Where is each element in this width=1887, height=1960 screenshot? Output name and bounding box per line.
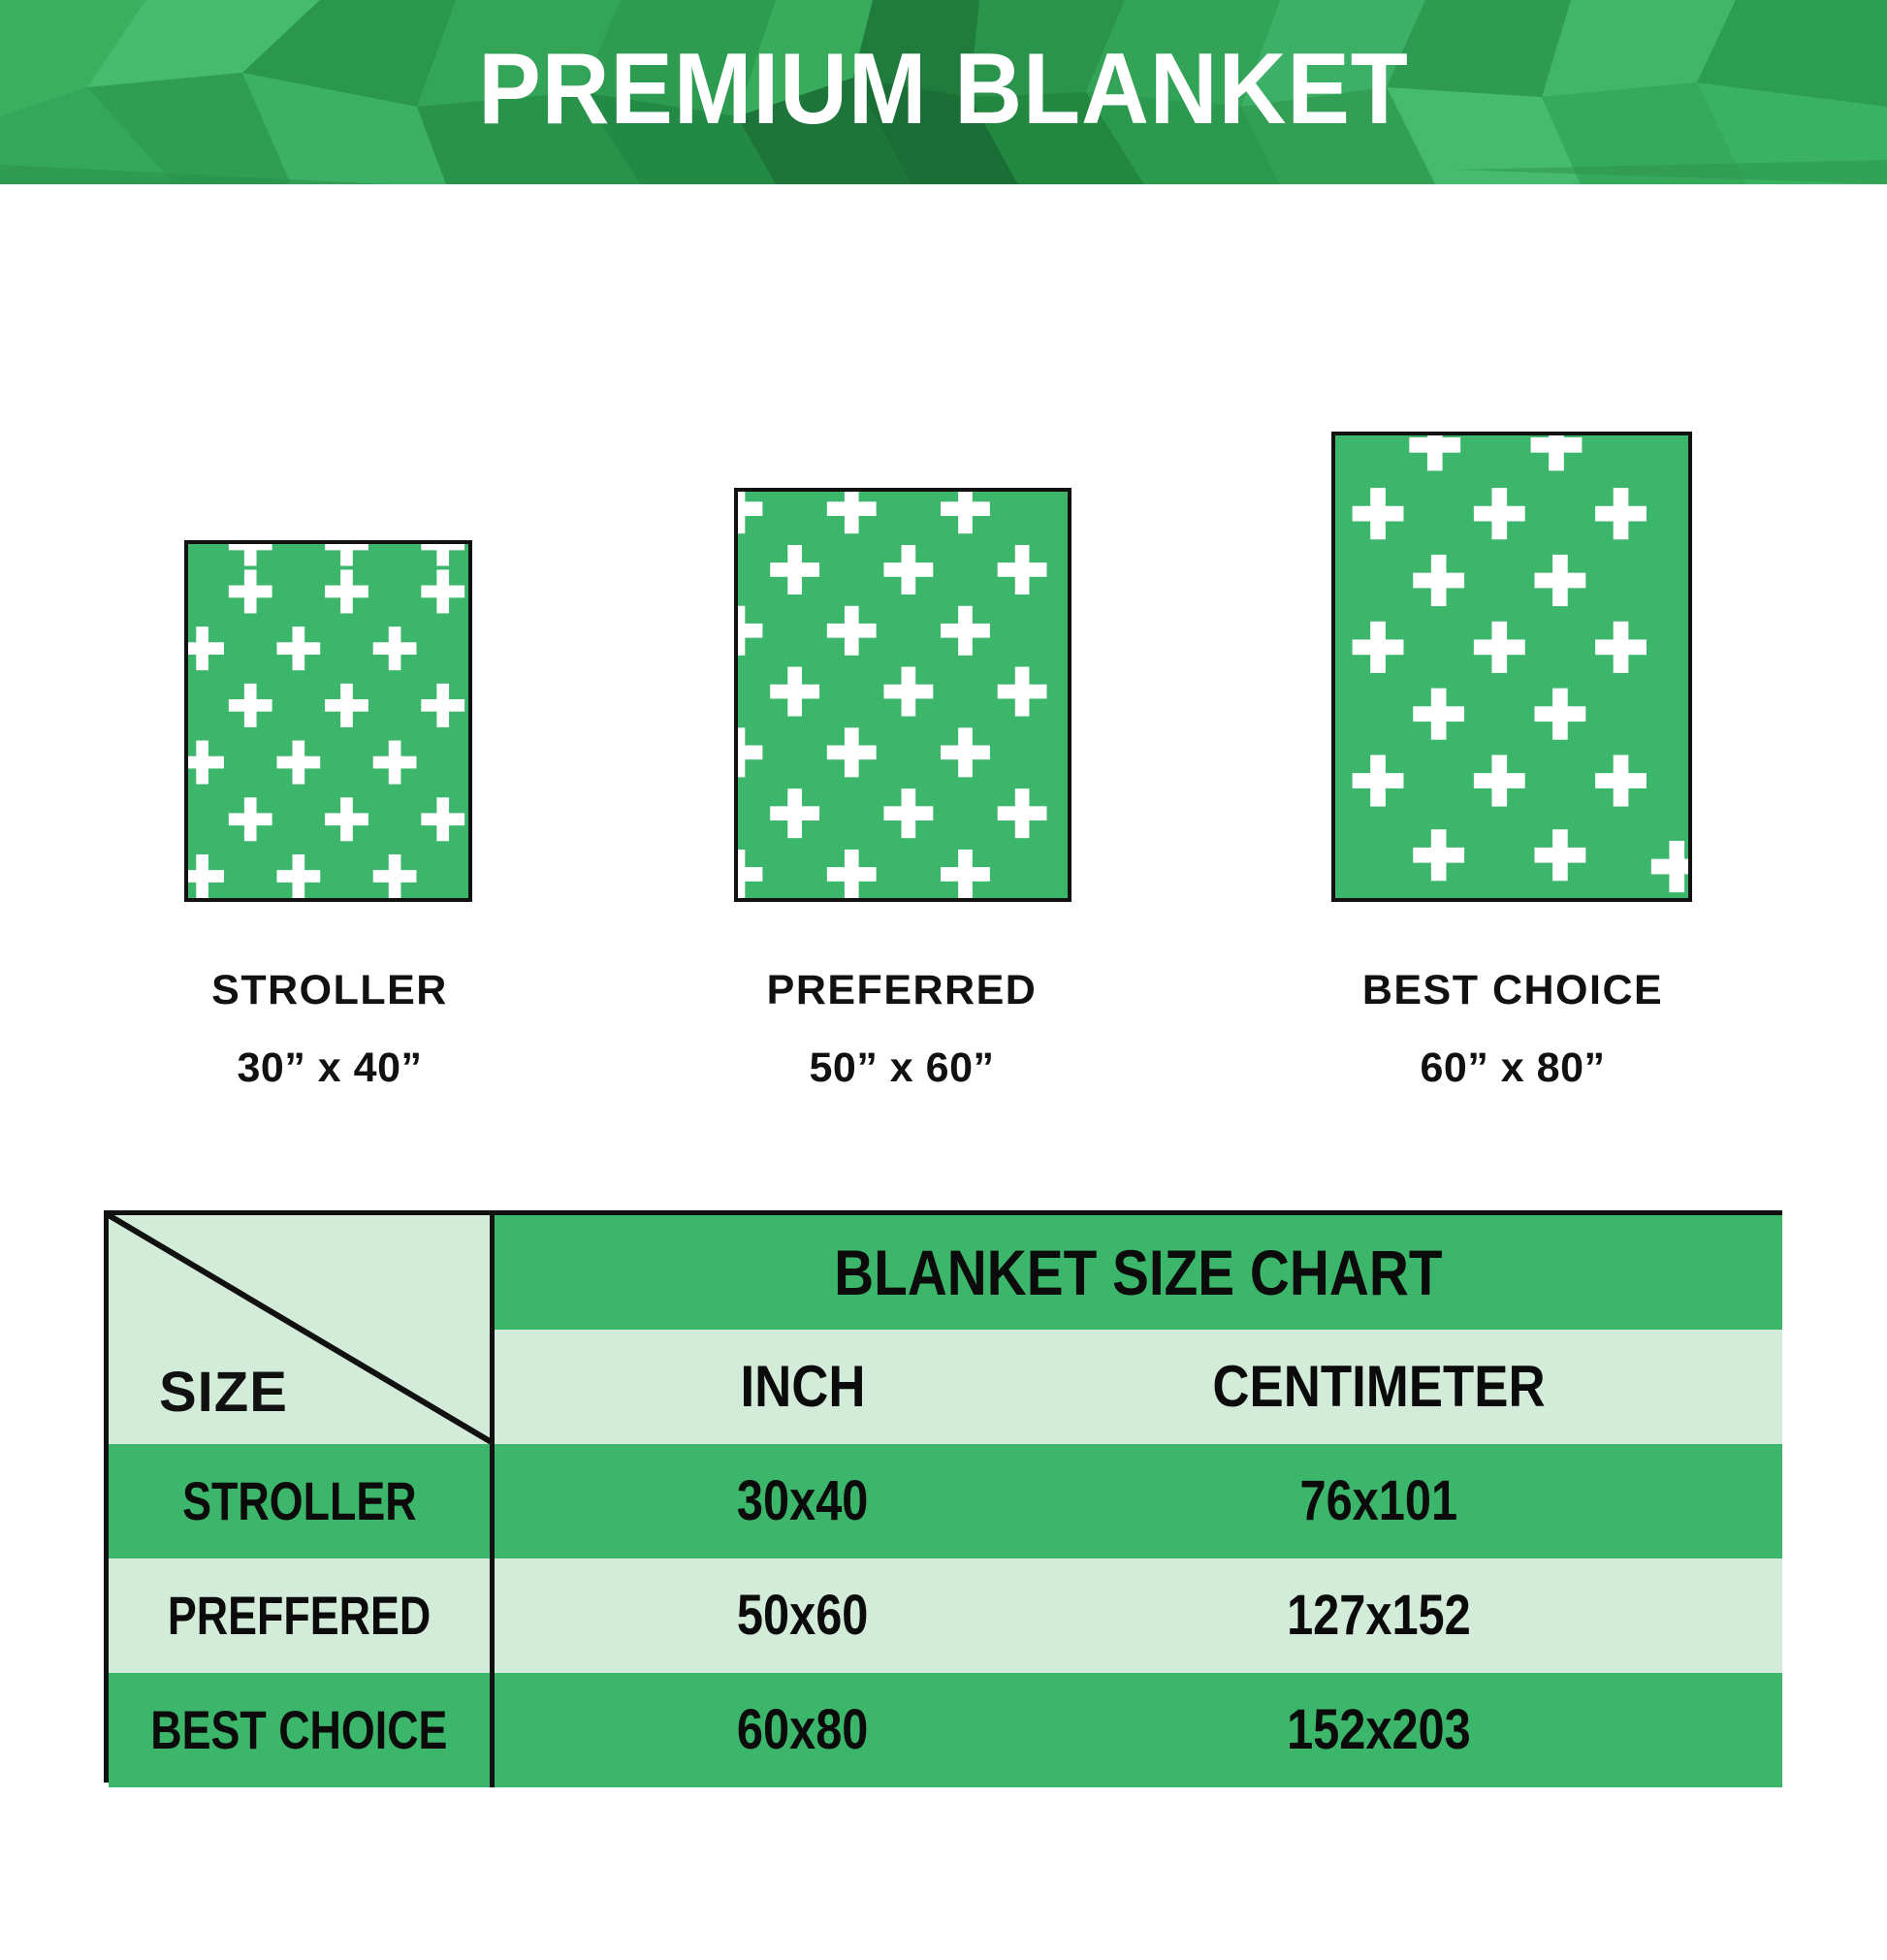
cross-pattern-icon bbox=[188, 544, 468, 898]
row-cm-value: 152x203 bbox=[1049, 1673, 1709, 1787]
swatch-dimensions: 60” x 80” bbox=[1280, 1047, 1745, 1089]
row-inch-value: 30x40 bbox=[566, 1444, 1039, 1558]
table-row: BEST CHOICE 60x80 152x203 bbox=[109, 1673, 1782, 1787]
swatch-label-best-choice: BEST CHOICE 60” x 80” bbox=[1280, 970, 1745, 1089]
swatch-name: BEST CHOICE bbox=[1280, 970, 1745, 1012]
blanket-swatch-stroller bbox=[184, 540, 472, 902]
row-inch-value: 60x80 bbox=[566, 1673, 1039, 1787]
swatch-name: PREFERRED bbox=[674, 970, 1130, 1012]
swatch-name: STROLLER bbox=[107, 970, 553, 1012]
table-row: STROLLER 30x40 76x101 bbox=[109, 1444, 1782, 1558]
blanket-size-chart-table: SIZE BLANKET SIZE CHART INCH CENTIMETER … bbox=[104, 1210, 1782, 1783]
row-inch-value: 50x60 bbox=[566, 1558, 1039, 1673]
column-header-inch: INCH bbox=[594, 1330, 1010, 1444]
size-header-cell: SIZE bbox=[109, 1215, 495, 1444]
page-title: PREMIUM BLANKET bbox=[66, 0, 1821, 184]
unit-header-row: INCH CENTIMETER bbox=[495, 1330, 1782, 1444]
swatch-label-preferred: PREFERRED 50” x 60” bbox=[674, 970, 1130, 1089]
column-header-centimeter: CENTIMETER bbox=[1089, 1330, 1669, 1444]
row-cm-value: 76x101 bbox=[1049, 1444, 1709, 1558]
table-title-band: BLANKET SIZE CHART bbox=[495, 1215, 1782, 1330]
row-cm-value: 127x152 bbox=[1049, 1558, 1709, 1673]
cross-pattern-icon bbox=[1335, 435, 1688, 898]
row-size-name: PREFFERED bbox=[109, 1558, 495, 1673]
row-size-name: STROLLER bbox=[109, 1444, 495, 1558]
swatch-dimensions: 50” x 60” bbox=[674, 1047, 1130, 1089]
header-banner: PREMIUM BLANKET bbox=[0, 0, 1887, 184]
swatch-label-stroller: STROLLER 30” x 40” bbox=[107, 970, 553, 1089]
table-title: BLANKET SIZE CHART bbox=[834, 1240, 1443, 1304]
table-row: PREFFERED 50x60 127x152 bbox=[109, 1558, 1782, 1673]
blanket-swatch-preferred bbox=[734, 488, 1071, 902]
size-header-label: SIZE bbox=[159, 1365, 288, 1421]
cross-pattern-icon bbox=[738, 492, 1068, 898]
blanket-swatch-best-choice bbox=[1331, 432, 1692, 902]
swatch-dimensions: 30” x 40” bbox=[107, 1047, 553, 1089]
row-size-name: BEST CHOICE bbox=[109, 1673, 495, 1787]
